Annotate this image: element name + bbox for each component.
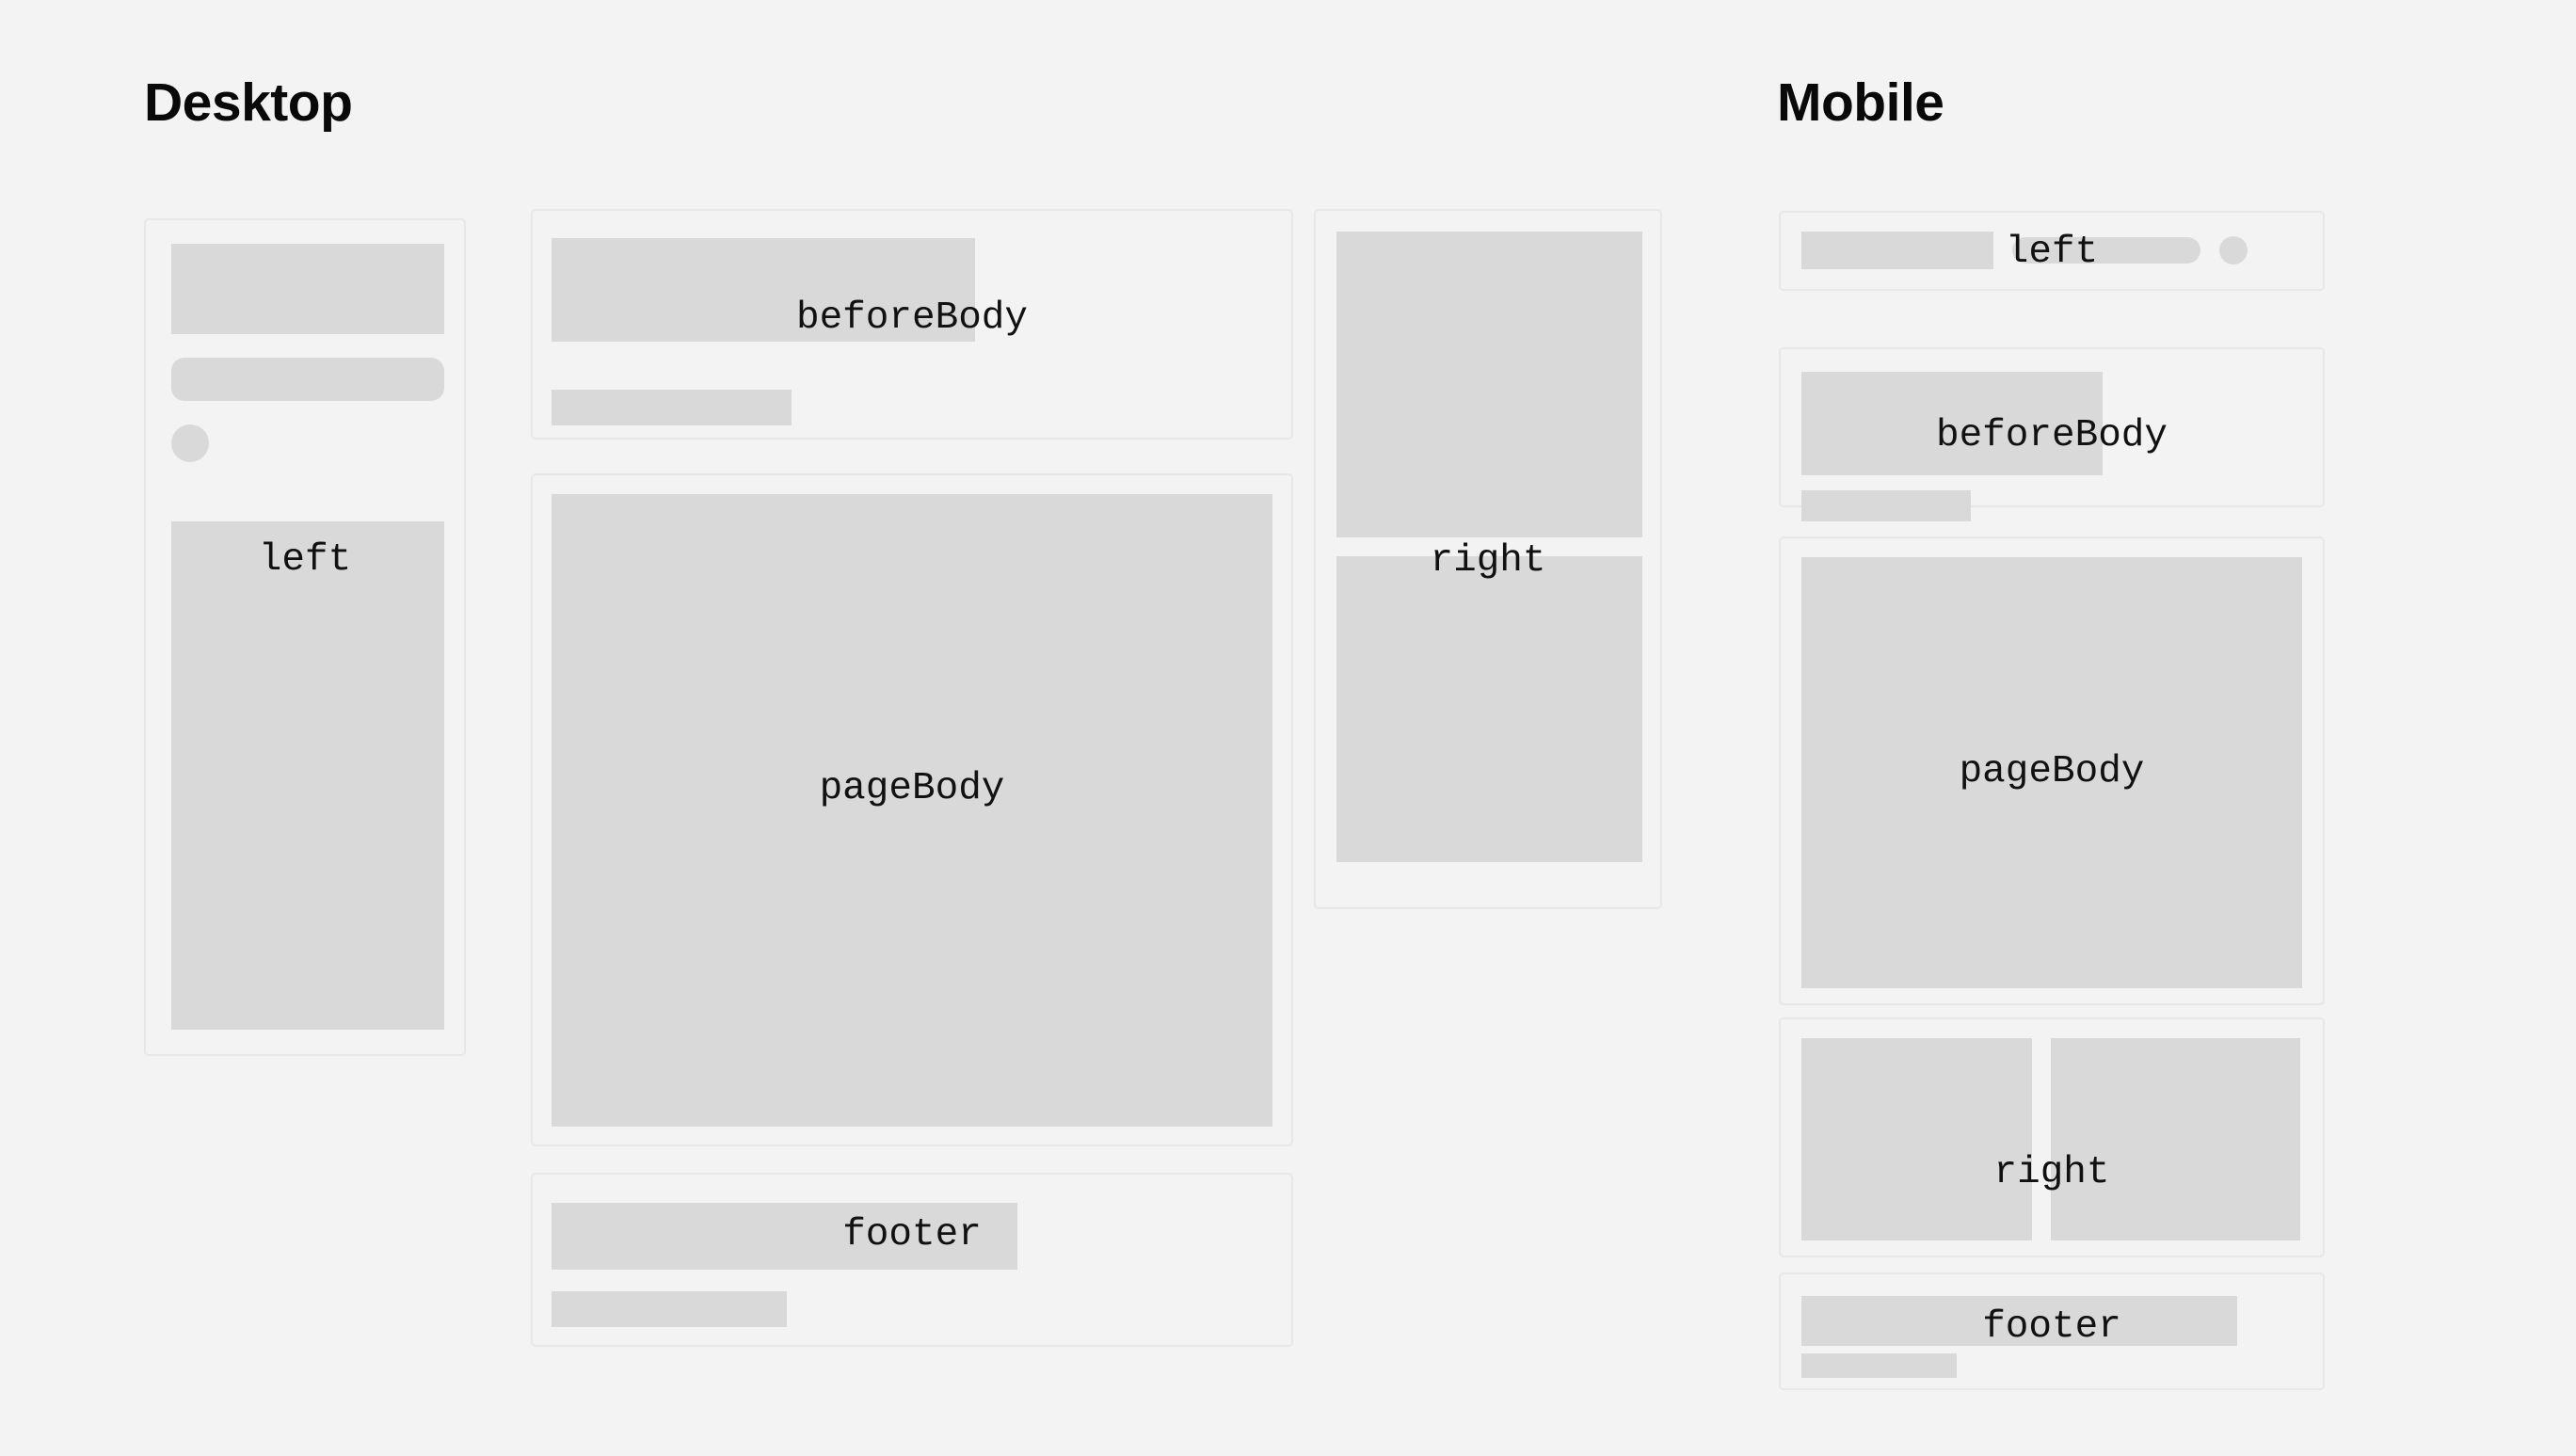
mobile-left-block-wide: [1801, 232, 1993, 269]
desktop-panel-left[interactable]: [144, 218, 466, 1056]
mobile-left-block-dot: [2219, 236, 2248, 264]
desktop-panel-right[interactable]: [1314, 209, 1662, 909]
mobile-panel-beforebody[interactable]: [1779, 347, 2325, 507]
mobile-panel-footer[interactable]: [1779, 1272, 2325, 1390]
desktop-left-block-pill: [171, 358, 444, 401]
mobile-section-title: Mobile: [1777, 72, 1944, 134]
mobile-beforebody-block-bar: [1801, 490, 1971, 521]
desktop-footer-block-hero: [552, 1203, 1017, 1270]
mobile-left-block-pill: [2012, 237, 2200, 264]
desktop-right-block-bottom: [1336, 556, 1642, 862]
mobile-footer-block-hero: [1801, 1296, 2237, 1346]
mobile-panel-pagebody[interactable]: [1779, 536, 2325, 1005]
desktop-left-block-wide: [171, 244, 444, 334]
desktop-section-title: Desktop: [144, 72, 352, 134]
desktop-beforebody-block-hero: [552, 238, 975, 342]
mobile-footer-block-bar: [1801, 1353, 1957, 1378]
desktop-footer-block-bar: [552, 1291, 787, 1327]
layout-preview-canvas: Desktop left beforeBody pageBody right f…: [0, 0, 2576, 1456]
mobile-right-block-right-col: [2051, 1038, 2300, 1240]
desktop-pagebody-block-main: [552, 494, 1272, 1127]
mobile-panel-left[interactable]: [1779, 211, 2325, 291]
mobile-right-block-left-col: [1801, 1038, 2032, 1240]
mobile-pagebody-block-main: [1801, 557, 2302, 988]
desktop-panel-beforebody[interactable]: [531, 209, 1293, 440]
mobile-panel-right[interactable]: [1779, 1017, 2325, 1257]
desktop-beforebody-block-bar: [552, 390, 792, 425]
desktop-panel-pagebody[interactable]: [531, 473, 1293, 1146]
desktop-right-block-top: [1336, 232, 1642, 537]
mobile-beforebody-block-hero: [1801, 372, 2103, 475]
desktop-left-block-dot: [171, 424, 209, 462]
desktop-left-block-tall: [171, 521, 444, 1030]
desktop-panel-footer[interactable]: [531, 1173, 1293, 1347]
